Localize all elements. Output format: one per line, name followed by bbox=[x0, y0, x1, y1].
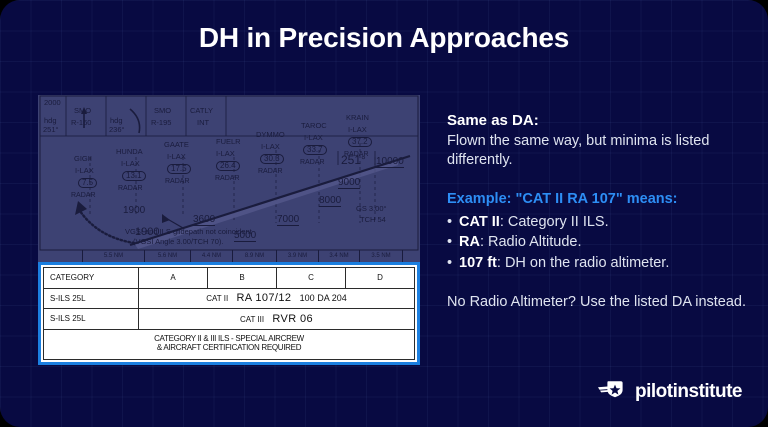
fix-dme-taroc: 33.7 bbox=[303, 145, 327, 155]
chart-heading-box-catly: CATLY bbox=[190, 107, 213, 115]
chart-heading-box-alt: 2000 bbox=[44, 99, 61, 107]
table-note-row: CATEGORY II & III ILS - SPECIAL AIRCREW … bbox=[44, 329, 415, 359]
chart-heading-box-smo1: SMO bbox=[74, 107, 91, 115]
fix-nav-dymmo: I-LAX bbox=[261, 143, 280, 151]
fix-nav-krain: I-LAX bbox=[348, 126, 367, 134]
chart-vgsi-note-line2: (VGSI Angle 3.00/TCH 70). bbox=[133, 238, 223, 246]
dist-cell-tail bbox=[402, 250, 420, 262]
slide-root: DH in Precision Approaches bbox=[0, 0, 768, 427]
minima-table: CATEGORY A B C D S-ILS 25L CAT II RA 107… bbox=[43, 267, 415, 360]
content-heading: Same as DA: bbox=[447, 112, 747, 129]
minima-row1-label: S-ILS 25L bbox=[44, 309, 139, 330]
bullet-rest-1: : Radio Altitude. bbox=[480, 234, 582, 250]
fix-type-gigii: RADAR bbox=[71, 192, 96, 199]
minima-row1-value: CAT III RVR 06 bbox=[139, 309, 415, 330]
chart-distance-strip: 5.5 NM 5.6 NM 4.4 NM 8.9 NM 3.9 NM 3.4 N… bbox=[38, 250, 420, 262]
bullet-term-2: 107 ft bbox=[459, 255, 497, 271]
chart-altitude-8000: 8000 bbox=[319, 196, 341, 207]
minima-row0-suffix: 100 DA 204 bbox=[300, 293, 347, 303]
fix-type-fuelr: RADAR bbox=[215, 175, 240, 182]
minima-note-line2: & AIRCRAFT CERTIFICATION REQUIRED bbox=[46, 344, 412, 353]
fix-type-taroc: RADAR bbox=[300, 159, 325, 166]
fix-dme-gaate: 17.5 bbox=[167, 164, 191, 174]
minima-row0-main: RA 107/12 bbox=[236, 292, 291, 304]
minima-row1-main: RVR 06 bbox=[272, 313, 313, 325]
bullet-term-0: CAT II bbox=[459, 214, 500, 230]
dist-cell-2: 4.4 NM bbox=[190, 250, 232, 262]
chart-heading-box-hdg2: 236° bbox=[109, 126, 125, 134]
chart-profile-view: 2000 hdg 251° SMO R-160 hdg 236° SMO R-1… bbox=[38, 95, 420, 262]
fix-dme-gigii: 7.5 bbox=[78, 178, 97, 188]
fix-dme-krain: 37.2 bbox=[348, 137, 372, 147]
dist-cell-5: 3.4 NM bbox=[318, 250, 359, 262]
fix-nav-hunda: I-LAX bbox=[121, 160, 140, 168]
content-body: Flown the same way, but minima is listed… bbox=[447, 132, 747, 171]
minima-special-note: CATEGORY II & III ILS - SPECIAL AIRCREW … bbox=[44, 329, 415, 359]
chart-tch: TCH 54 bbox=[360, 216, 386, 224]
chart-heading-box-r195: R-195 bbox=[151, 119, 171, 127]
content-column: Same as DA: Flown the same way, but mini… bbox=[447, 112, 747, 313]
bullet-rest-2: : DH on the radio altimeter. bbox=[497, 255, 669, 271]
chart-altitude-7000: 7000 bbox=[277, 215, 299, 226]
fix-nav-gigii: I-LAX bbox=[75, 167, 94, 175]
chart-altitude-9000: 9000 bbox=[338, 178, 360, 189]
list-item: RA: Radio Altitude. bbox=[447, 232, 747, 253]
bullet-term-1: RA bbox=[459, 234, 480, 250]
chart-heading-box-label: hdg bbox=[44, 117, 57, 125]
dist-cell-1: 5.6 NM bbox=[144, 250, 190, 262]
table-header-row: CATEGORY A B C D bbox=[44, 268, 415, 289]
fix-name-taroc: TAROC bbox=[301, 122, 327, 130]
chart-heading-box-r160: R-160 bbox=[71, 119, 91, 127]
fix-name-fuelr: FUELR bbox=[216, 138, 241, 146]
fix-dme-fuelr: 26.4 bbox=[216, 161, 240, 171]
minima-row0-label: S-ILS 25L bbox=[44, 288, 139, 309]
minima-row0-prefix: CAT II bbox=[206, 294, 228, 303]
chart-vgsi-note-line1: VGSI and ILS glidepath not coincident bbox=[125, 228, 252, 236]
winged-star-badge-icon bbox=[598, 380, 628, 403]
fix-type-dymmo: RADAR bbox=[258, 168, 283, 175]
chart-altitude-3600: 3600 bbox=[193, 215, 215, 226]
fix-nav-taroc: I-LAX bbox=[304, 134, 323, 142]
fix-dme-dymmo: 30.3 bbox=[260, 154, 284, 164]
chart-heading-box-hdg: 251° bbox=[43, 126, 59, 134]
minima-row1-prefix: CAT III bbox=[240, 315, 264, 324]
minima-header-b: B bbox=[208, 268, 277, 289]
dist-cell-3: 8.9 NM bbox=[232, 250, 276, 262]
bullet-rest-0: : Category II ILS. bbox=[500, 214, 609, 230]
fix-type-gaate: RADAR bbox=[165, 178, 190, 185]
minima-header-c: C bbox=[277, 268, 346, 289]
minima-header-category: CATEGORY bbox=[44, 268, 139, 289]
list-item: 107 ft: DH on the radio altimeter. bbox=[447, 253, 747, 274]
fix-dme-hunda: 13.1 bbox=[122, 171, 146, 181]
dist-cell-lead bbox=[38, 250, 82, 262]
content-tail: No Radio Altimeter? Use the listed DA in… bbox=[447, 293, 747, 312]
chart-heading-box-smo2: SMO bbox=[154, 107, 171, 115]
fix-name-gigii: GIGII bbox=[74, 155, 92, 163]
fix-name-krain: KRAIN bbox=[346, 114, 369, 122]
chart-heading-box-label2: hdg bbox=[110, 117, 123, 125]
fix-name-hunda: HUNDA bbox=[116, 148, 143, 156]
table-row: S-ILS 25L CAT III RVR 06 bbox=[44, 309, 415, 330]
chart-glideslope-angle: GS 3.00° bbox=[356, 205, 387, 213]
brand-logo: pilotinstitute bbox=[598, 380, 742, 403]
minima-header-a: A bbox=[139, 268, 208, 289]
fix-name-dymmo: DYMMO bbox=[256, 131, 285, 139]
dist-cell-4: 3.9 NM bbox=[276, 250, 318, 262]
minima-header-d: D bbox=[346, 268, 415, 289]
minima-table-highlight: CATEGORY A B C D S-ILS 25L CAT II RA 107… bbox=[38, 262, 420, 365]
fix-nav-fuelr: I-LAX bbox=[216, 150, 235, 158]
chart-heading-box-int: INT bbox=[197, 119, 209, 127]
chart-altitude-1900-a: 1900 bbox=[123, 206, 145, 216]
chart-final-course: 251° bbox=[341, 154, 366, 166]
dist-cell-6: 3.5 NM bbox=[359, 250, 402, 262]
dist-cell-0: 5.5 NM bbox=[82, 250, 144, 262]
page-title: DH in Precision Approaches bbox=[0, 22, 768, 54]
table-row: S-ILS 25L CAT II RA 107/12 100 DA 204 bbox=[44, 288, 415, 309]
approach-chart-figure: 2000 hdg 251° SMO R-160 hdg 236° SMO R-1… bbox=[38, 95, 420, 365]
brand-name: pilotinstitute bbox=[635, 381, 742, 403]
content-example-label: Example: "CAT II RA 107" means: bbox=[447, 191, 747, 207]
fix-nav-gaate: I-LAX bbox=[167, 153, 186, 161]
fix-name-gaate: GAATE bbox=[164, 141, 189, 149]
list-item: CAT II: Category II ILS. bbox=[447, 212, 747, 233]
minima-row0-value: CAT II RA 107/12 100 DA 204 bbox=[139, 288, 415, 309]
content-bullet-list: CAT II: Category II ILS. RA: Radio Altit… bbox=[447, 212, 747, 274]
fix-type-hunda: RADAR bbox=[118, 185, 143, 192]
chart-altitude-10000: 10000 bbox=[376, 157, 404, 168]
